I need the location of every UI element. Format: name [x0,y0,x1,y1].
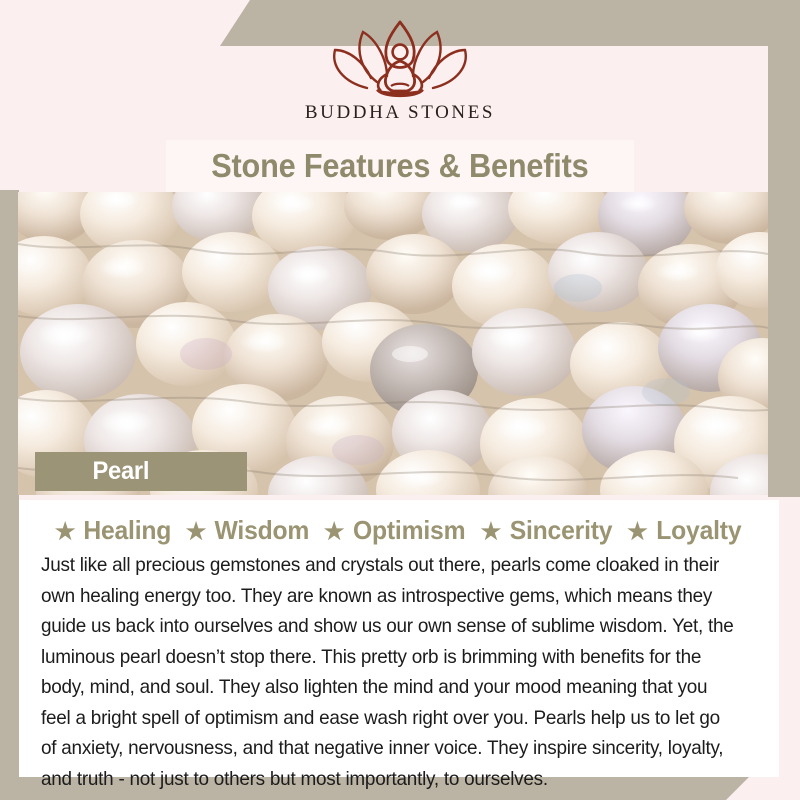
feature-keyword-list: ★ Healing ★ Wisdom ★ Optimism ★ Sincerit… [41,512,757,548]
feature-keyword-label: Sincerity [510,515,613,546]
decorative-frame-left [0,190,19,800]
feature-keyword-label: Wisdom [215,515,310,546]
page-title: Stone Features & Benefits [211,147,588,185]
lotus-meditation-icon [325,16,475,100]
page-title-band: Stone Features & Benefits [166,140,634,192]
star-icon: ★ [186,520,206,543]
feature-keyword-healing: ★ Healing [55,515,174,546]
stone-name: Pearl [92,457,149,486]
stone-description-text: Just like all precious gemstones and cry… [41,550,739,794]
description-card: ★ Healing ★ Wisdom ★ Optimism ★ Sincerit… [19,500,779,777]
brand-wordmark: BUDDHA STONES [305,102,495,124]
star-icon: ★ [324,520,344,543]
pearl-photo [18,192,768,495]
feature-keyword-loyalty: ★ Loyalty [627,515,743,546]
stone-name-banner: Pearl [35,452,247,491]
feature-keyword-sincerity: ★ Sincerity [481,515,615,546]
stone-benefits-infographic: BUDDHA STONES Stone Features & Benefits [0,0,800,800]
star-icon: ★ [627,520,647,543]
brand-header: BUDDHA STONES [0,0,800,140]
star-icon: ★ [55,520,75,543]
feature-keyword-label: Optimism [353,515,465,546]
feature-keyword-label: Healing [84,515,172,546]
feature-keyword-optimism: ★ Optimism [324,515,469,546]
feature-keyword-label: Loyalty [656,515,741,546]
star-icon: ★ [481,520,501,543]
feature-keyword-wisdom: ★ Wisdom [186,515,312,546]
